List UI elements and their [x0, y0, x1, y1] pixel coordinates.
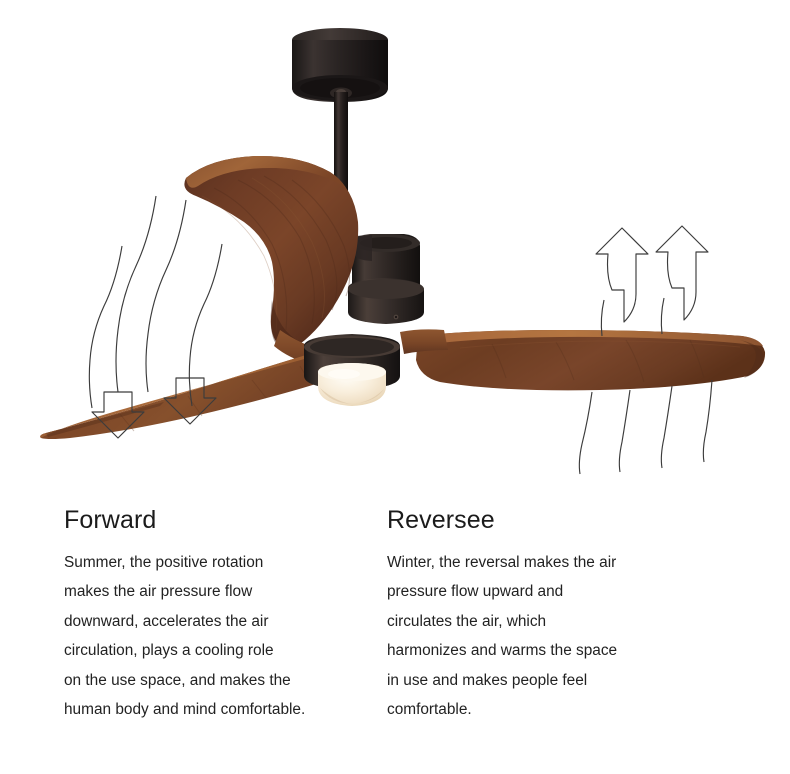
motor-housing — [348, 234, 424, 324]
forward-body-text: Summer, the positive rotation makes the … — [64, 548, 375, 725]
description-columns: Forward Summer, the positive rotation ma… — [0, 490, 790, 774]
reverse-body-text: Winter, the reversal makes the air press… — [387, 548, 790, 725]
forward-heading: Forward — [64, 507, 375, 535]
reverse-column: Reversee Winter, the reversal makes the … — [375, 490, 790, 774]
forward-column: Forward Summer, the positive rotation ma… — [0, 490, 375, 774]
product-detail-image: Forward Summer, the positive rotation ma… — [0, 0, 790, 774]
ceiling-canopy — [292, 28, 388, 102]
reverse-heading: Reversee — [387, 507, 790, 535]
blade-right — [416, 330, 765, 390]
blade-upper-tilted — [184, 156, 358, 348]
blade-left — [40, 344, 344, 439]
light-kit — [304, 334, 400, 406]
ceiling-fan-illustration — [0, 0, 790, 490]
